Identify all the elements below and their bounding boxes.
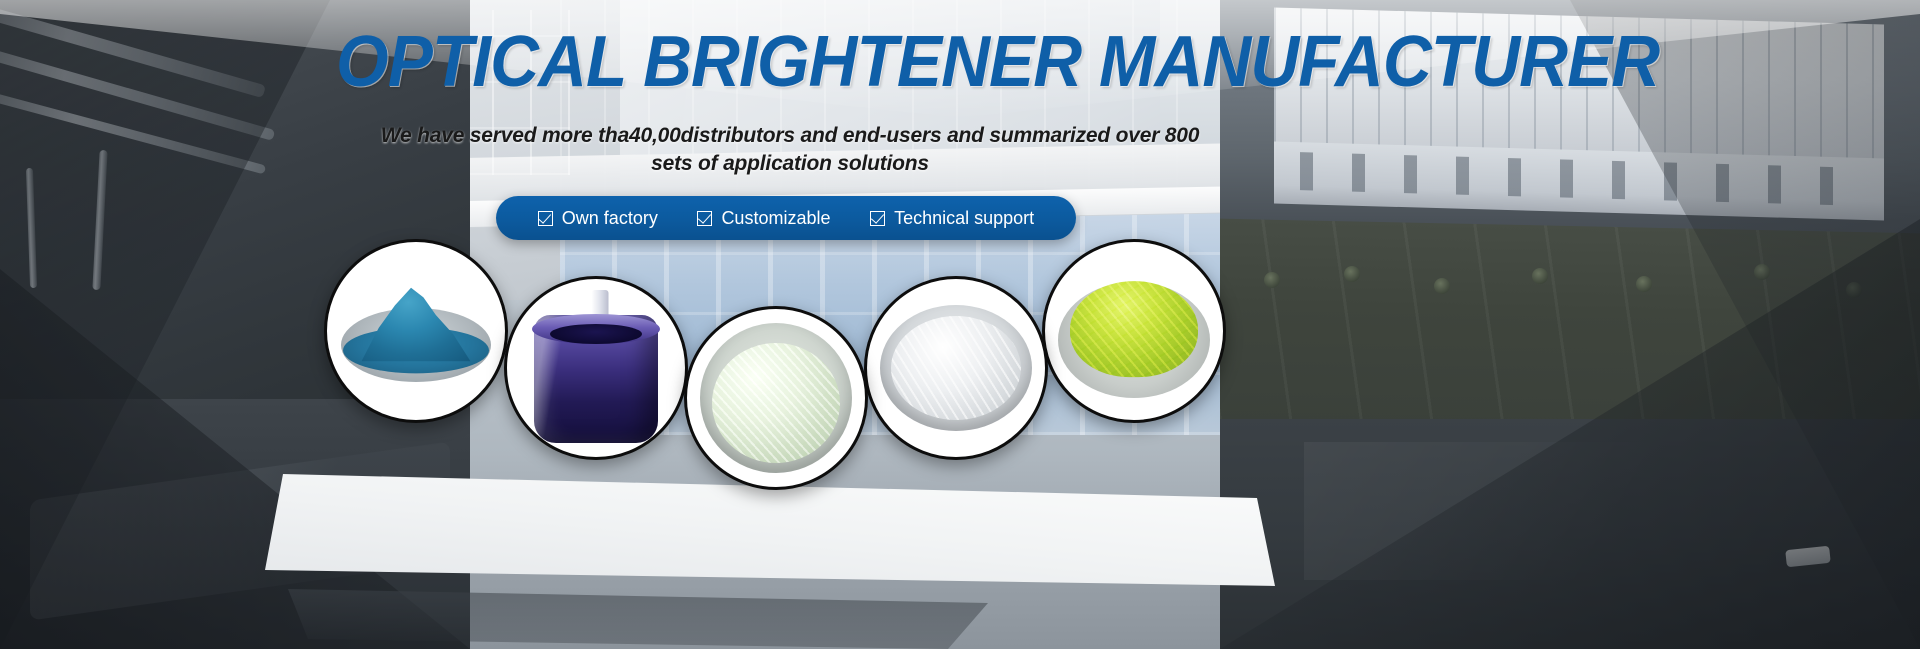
page-title: OPTICAL BRIGHTENER MANUFACTURER <box>336 26 1276 99</box>
right-access-road <box>1220 419 1920 649</box>
product-circle-yellow-green-powder[interactable] <box>1042 239 1226 423</box>
feature-label: Own factory <box>562 208 658 229</box>
checkbox-checked-icon <box>538 211 553 226</box>
powder-heap <box>1070 281 1198 377</box>
tree-icon <box>1264 272 1280 288</box>
product-circle-blue-powder[interactable] <box>324 239 508 423</box>
feature-label: Technical support <box>894 208 1034 229</box>
product-circle-pale-green-powder[interactable] <box>684 306 868 490</box>
pipe-support <box>26 168 37 288</box>
tree-icon <box>1434 278 1450 294</box>
tree-icon <box>1846 282 1862 298</box>
tree-icon <box>1636 276 1652 292</box>
feature-technical-support[interactable]: Technical support <box>870 208 1034 229</box>
feature-customizable[interactable]: Customizable <box>697 208 830 229</box>
tree-icon <box>1344 266 1360 282</box>
checkbox-checked-icon <box>870 211 885 226</box>
tree-icon <box>1754 264 1770 280</box>
right-lawn <box>1220 219 1920 444</box>
feature-badge-bar: Own factory Customizable Technical suppo… <box>496 196 1076 240</box>
liquid-surface <box>550 324 642 344</box>
feature-own-factory[interactable]: Own factory <box>538 208 658 229</box>
product-circle-white-powder[interactable] <box>864 276 1048 460</box>
promo-banner: OPTICAL BRIGHTENER MANUFACTURER We have … <box>0 0 1920 649</box>
subtitle: We have served more tha40,00distributors… <box>360 122 1220 177</box>
powder-heap <box>712 343 840 463</box>
subtitle-line-2: application solutions <box>723 152 929 175</box>
tree-icon <box>1532 268 1548 284</box>
pipe-support <box>92 150 107 290</box>
pipe-run <box>0 3 266 98</box>
checkbox-checked-icon <box>697 211 712 226</box>
feature-label: Customizable <box>721 208 830 229</box>
product-circle-purple-liquid[interactable] <box>504 276 688 460</box>
powder-heap <box>891 316 1021 420</box>
pipe-run <box>0 91 266 175</box>
